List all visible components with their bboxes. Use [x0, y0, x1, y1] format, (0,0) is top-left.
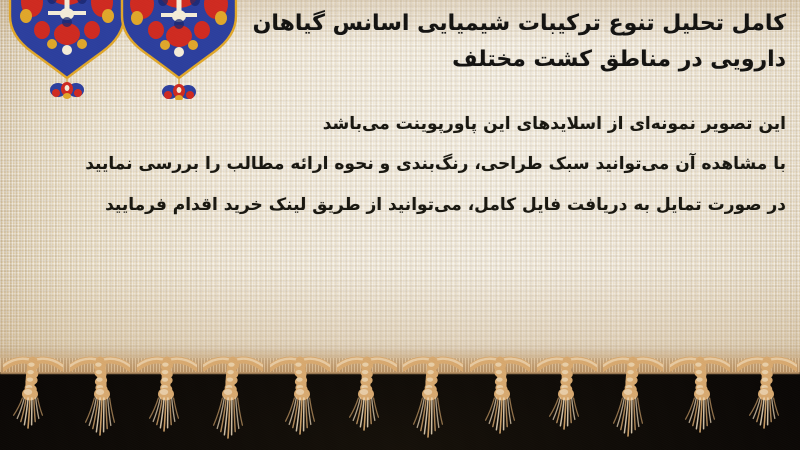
page-title: کامل تحلیل تنوع ترکیبات شیمیایی اسانس گی… [226, 6, 786, 77]
body-line-3: در صورت تمایل به دریافت فایل کامل، می‌تو… [14, 185, 786, 225]
slide-body-text: این تصویر نمونه‌ای از اسلایدهای این پاور… [14, 104, 786, 225]
slide-text-layer: کامل تحلیل تنوع ترکیبات شیمیایی اسانس گی… [0, 0, 800, 450]
title-line-2: مناطق کشت مختلف [452, 47, 671, 72]
slide-canvas: کامل تحلیل تنوع ترکیبات شیمیایی اسانس گی… [0, 0, 800, 450]
body-line-1: این تصویر نمونه‌ای از اسلایدهای این پاور… [14, 104, 786, 144]
body-line-2: با مشاهده آن می‌توانید سبک طراحی، رنگ‌بن… [14, 144, 786, 184]
